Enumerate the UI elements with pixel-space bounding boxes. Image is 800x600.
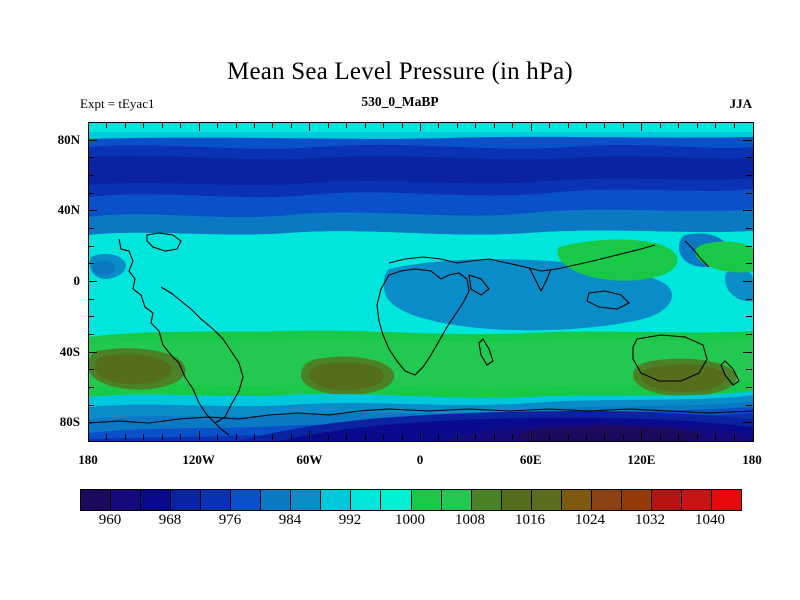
y-minor-tick xyxy=(88,334,94,335)
x-minor-tick xyxy=(678,434,679,440)
y-minor-tick xyxy=(88,352,97,353)
colorbar-cell xyxy=(381,490,411,510)
x-axis-label: 60W xyxy=(269,452,349,468)
colorbar-cell xyxy=(321,490,351,510)
y-axis-label: 80S xyxy=(34,414,80,430)
x-minor-tick xyxy=(494,122,495,128)
x-axis-label: 120E xyxy=(601,452,681,468)
map-plot-area xyxy=(88,122,754,442)
x-minor-tick xyxy=(309,431,310,440)
x-minor-tick xyxy=(586,434,587,440)
y-minor-tick xyxy=(746,246,752,247)
x-minor-tick xyxy=(660,434,661,440)
colorbar-cell xyxy=(442,490,472,510)
y-axis-label: 0 xyxy=(34,273,80,289)
x-minor-tick xyxy=(531,122,532,131)
y-minor-tick xyxy=(88,175,94,176)
x-minor-tick xyxy=(531,431,532,440)
x-minor-tick xyxy=(143,434,144,440)
colorbar-cell xyxy=(351,490,381,510)
x-minor-tick xyxy=(457,434,458,440)
x-minor-tick xyxy=(199,431,200,440)
y-minor-tick xyxy=(746,334,752,335)
x-minor-tick xyxy=(236,122,237,128)
x-minor-tick xyxy=(475,122,476,128)
x-minor-tick xyxy=(697,434,698,440)
y-minor-tick xyxy=(746,405,752,406)
colorbar-cell xyxy=(141,490,171,510)
y-minor-tick xyxy=(746,157,752,158)
x-minor-tick xyxy=(365,434,366,440)
x-minor-tick xyxy=(143,122,144,128)
x-minor-tick xyxy=(402,434,403,440)
y-minor-tick xyxy=(746,175,752,176)
x-minor-tick xyxy=(549,434,550,440)
y-minor-tick xyxy=(88,369,94,370)
colorbar-cell xyxy=(622,490,652,510)
x-minor-tick xyxy=(383,434,384,440)
season-label: JJA xyxy=(730,96,752,112)
colorbar-cell xyxy=(502,490,532,510)
x-minor-tick xyxy=(549,122,550,128)
y-minor-tick xyxy=(88,228,94,229)
x-minor-tick xyxy=(272,122,273,128)
x-minor-tick xyxy=(438,122,439,128)
x-minor-tick xyxy=(346,434,347,440)
y-minor-tick xyxy=(746,387,752,388)
x-minor-tick xyxy=(641,431,642,440)
x-minor-tick xyxy=(291,434,292,440)
x-minor-tick xyxy=(291,122,292,128)
colorbar-labels: 960968976984992100010081016102410321040 xyxy=(80,512,740,536)
x-minor-tick xyxy=(125,122,126,128)
x-minor-tick xyxy=(734,434,735,440)
x-minor-tick xyxy=(604,434,605,440)
y-minor-tick xyxy=(88,210,97,211)
x-minor-tick xyxy=(346,122,347,128)
x-minor-tick xyxy=(697,122,698,128)
x-minor-tick xyxy=(106,434,107,440)
y-minor-tick xyxy=(746,316,752,317)
y-minor-tick xyxy=(746,193,752,194)
colorbar-cell xyxy=(412,490,442,510)
colorbar-cell xyxy=(111,490,141,510)
x-axis-label: 120W xyxy=(159,452,239,468)
x-minor-tick xyxy=(328,434,329,440)
x-minor-tick xyxy=(734,122,735,128)
x-minor-tick xyxy=(383,122,384,128)
x-minor-tick xyxy=(660,122,661,128)
colorbar-cell xyxy=(532,490,562,510)
x-minor-tick xyxy=(180,122,181,128)
colorbar-cell xyxy=(201,490,231,510)
y-minor-tick xyxy=(746,263,752,264)
x-minor-tick xyxy=(512,122,513,128)
x-minor-tick xyxy=(254,434,255,440)
y-minor-tick xyxy=(88,281,97,282)
x-minor-tick xyxy=(402,122,403,128)
experiment-label: Expt = tEyac1 xyxy=(80,96,154,112)
x-minor-tick xyxy=(420,122,421,131)
y-minor-tick xyxy=(88,246,94,247)
x-minor-tick xyxy=(715,122,716,128)
x-minor-tick xyxy=(125,434,126,440)
x-axis-label: 180 xyxy=(48,452,128,468)
colorbar-cell xyxy=(472,490,502,510)
y-minor-tick xyxy=(88,387,94,388)
y-minor-tick xyxy=(743,281,752,282)
colorbar-cell xyxy=(171,490,201,510)
chart-title: Mean Sea Level Pressure (in hPa) xyxy=(0,58,800,86)
x-minor-tick xyxy=(217,434,218,440)
x-axis-label: 60E xyxy=(491,452,571,468)
colorbar-cell xyxy=(652,490,682,510)
x-minor-tick xyxy=(623,122,624,128)
x-minor-tick xyxy=(199,122,200,131)
y-minor-tick xyxy=(743,210,752,211)
y-minor-tick xyxy=(88,263,94,264)
colorbar-cell xyxy=(231,490,261,510)
x-minor-tick xyxy=(328,122,329,128)
y-minor-tick xyxy=(743,422,752,423)
y-minor-tick xyxy=(88,193,94,194)
x-axis-label: 180 xyxy=(712,452,792,468)
y-minor-tick xyxy=(746,369,752,370)
x-minor-tick xyxy=(272,434,273,440)
x-minor-tick xyxy=(162,434,163,440)
contour-map xyxy=(89,123,753,441)
colorbar-cell xyxy=(291,490,321,510)
y-minor-tick xyxy=(746,299,752,300)
x-minor-tick xyxy=(475,434,476,440)
x-minor-tick xyxy=(457,122,458,128)
x-minor-tick xyxy=(568,122,569,128)
y-minor-tick xyxy=(743,352,752,353)
x-axis-label: 0 xyxy=(380,452,460,468)
y-axis-label: 80N xyxy=(34,132,80,148)
y-minor-tick xyxy=(88,157,94,158)
x-minor-tick xyxy=(568,434,569,440)
y-minor-tick xyxy=(746,228,752,229)
y-axis-label: 40S xyxy=(34,344,80,360)
y-minor-tick xyxy=(743,140,752,141)
y-minor-tick xyxy=(88,422,97,423)
x-minor-tick xyxy=(254,122,255,128)
x-minor-tick xyxy=(678,122,679,128)
x-minor-tick xyxy=(512,434,513,440)
y-minor-tick xyxy=(88,140,97,141)
colorbar-cell xyxy=(261,490,291,510)
y-axis-label: 40N xyxy=(34,202,80,218)
colorbar-cell xyxy=(592,490,622,510)
colorbar-tick-label: 1040 xyxy=(675,512,745,529)
x-minor-tick xyxy=(106,122,107,128)
x-minor-tick xyxy=(494,434,495,440)
x-minor-tick xyxy=(438,434,439,440)
x-minor-tick xyxy=(309,122,310,131)
x-minor-tick xyxy=(236,434,237,440)
y-minor-tick xyxy=(88,316,94,317)
colorbar-cell xyxy=(81,490,111,510)
y-minor-tick xyxy=(88,299,94,300)
colorbar-cell xyxy=(682,490,712,510)
colorbar-cell xyxy=(712,490,741,510)
x-minor-tick xyxy=(641,122,642,131)
x-minor-tick xyxy=(180,434,181,440)
x-minor-tick xyxy=(623,434,624,440)
x-minor-tick xyxy=(420,431,421,440)
colorbar-cell xyxy=(562,490,592,510)
x-minor-tick xyxy=(217,122,218,128)
x-minor-tick xyxy=(604,122,605,128)
x-minor-tick xyxy=(365,122,366,128)
x-minor-tick xyxy=(586,122,587,128)
x-minor-tick xyxy=(162,122,163,128)
y-minor-tick xyxy=(88,405,94,406)
x-minor-tick xyxy=(715,434,716,440)
colorbar xyxy=(80,489,742,511)
